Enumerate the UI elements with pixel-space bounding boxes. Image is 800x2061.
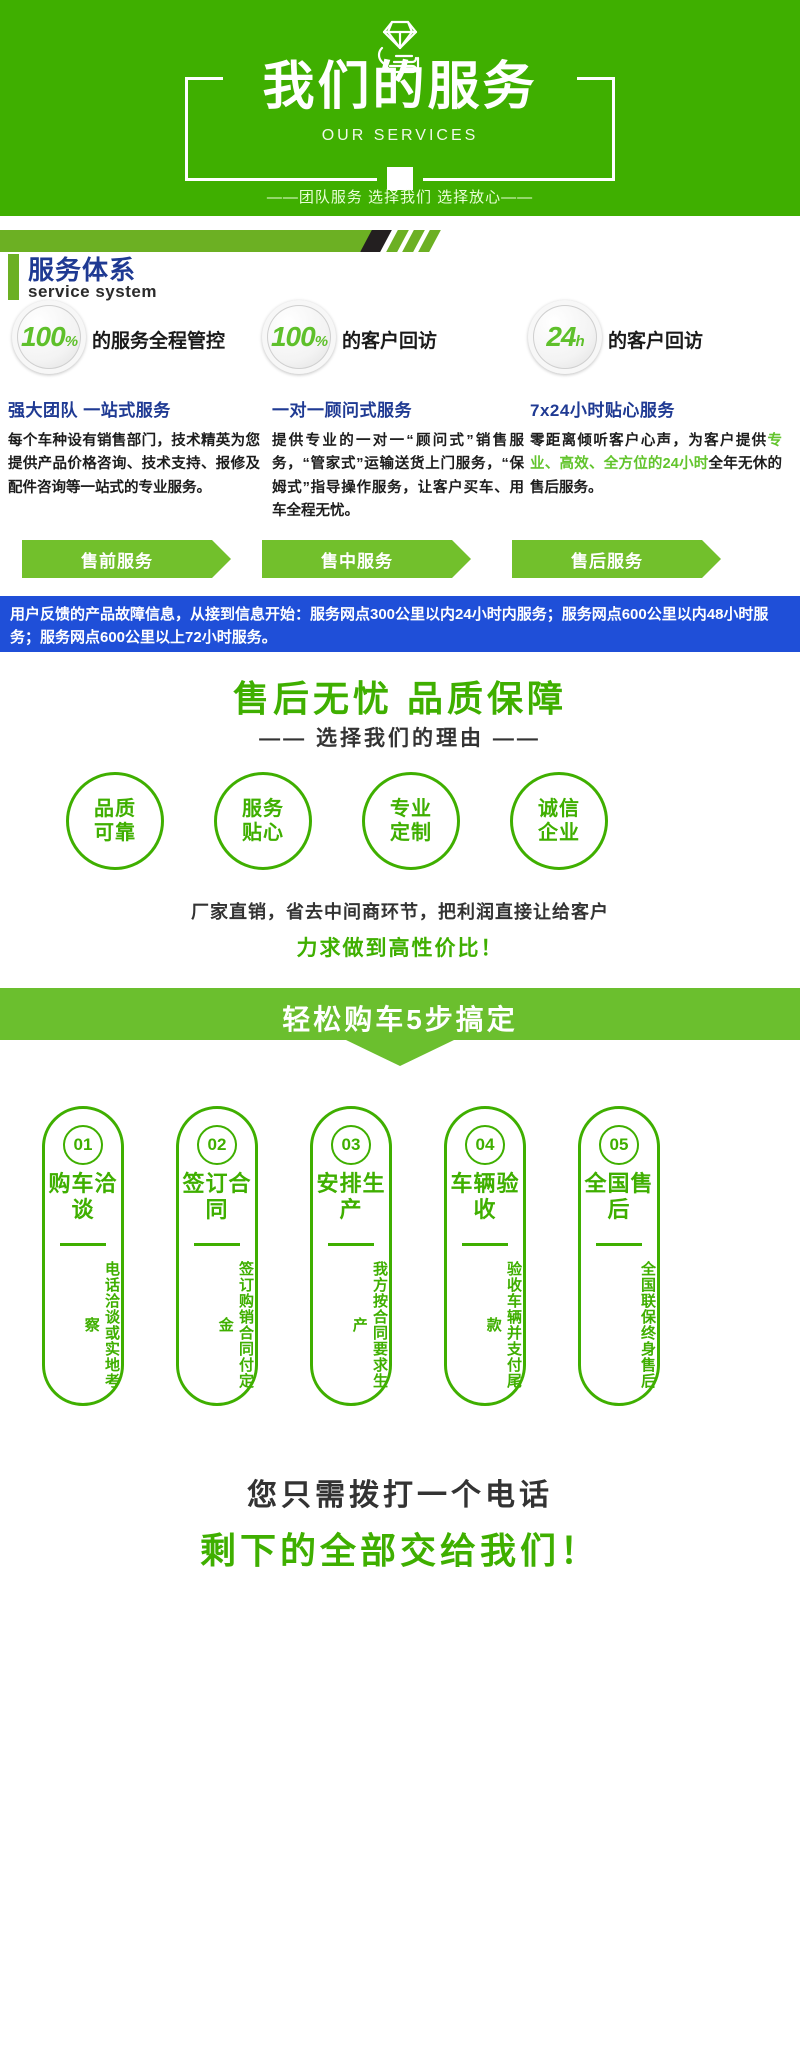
badge-row: 100% 的服务全程管控 100% 的客户回访 24h 的客户回访 <box>0 300 800 388</box>
arrow-banner-tip <box>346 1040 454 1066</box>
arrow-tab-presale[interactable]: 售前服务 <box>22 540 212 578</box>
step-number-4: 04 <box>465 1125 505 1165</box>
service-column-3: 7x24小时贴心服务 零距离倾听客户心声，为客户提供专业、高效、全方位的24小时… <box>530 396 782 500</box>
step-number-5: 05 <box>599 1125 639 1165</box>
column-heading-3: 7x24小时贴心服务 <box>530 396 782 421</box>
reason-1-line2: 可靠 <box>94 821 136 845</box>
column-body-3-pre: 零距离倾听客户心声，为客户提供 <box>530 433 768 449</box>
arrow-tab-aftersale[interactable]: 售后服务 <box>512 540 702 578</box>
step-title-4: 车辆验收 <box>447 1171 523 1223</box>
step-rule-1 <box>60 1243 106 1246</box>
badge-item-1: 100% 的服务全程管控 <box>12 300 258 388</box>
column-heading-1: 强大团队 一站式服务 <box>8 396 260 421</box>
reason-4-line1: 诚信 <box>538 797 580 821</box>
badge-label-3: 的客户回访 <box>608 326 703 353</box>
service-policy-banner: 用户反馈的产品故障信息，从接到信息开始：服务网点300公里以内24小时内服务；服… <box>0 596 800 652</box>
page-subtitle: OUR SERVICES <box>185 127 615 145</box>
step-capsule-5[interactable]: 05 全国售后 全国联保终身售后 <box>578 1106 660 1406</box>
purchase-steps-arrow-banner: 轻松购车5步搞定 <box>0 988 800 1064</box>
step-rule-5 <box>596 1243 642 1246</box>
step-capsule-4[interactable]: 04 车辆验收 验收车辆并支付尾款 <box>444 1106 526 1406</box>
step-title-5: 全国售后 <box>581 1171 657 1223</box>
value-for-money-line: 力求做到高性价比！ <box>0 932 800 962</box>
badge-number-2: 100% <box>271 323 327 351</box>
step-desc-1: 电话洽谈或实地考察 <box>45 1255 121 1395</box>
arrow-tab-midsale[interactable]: 售中服务 <box>262 540 452 578</box>
page-title: 我们的服务 <box>185 61 615 113</box>
section-heading-en: service system <box>28 282 157 302</box>
arrow-tab-row: 售前服务 售中服务 售后服务 <box>0 540 800 580</box>
step-desc-2: 签订购销合同付定金 <box>179 1255 255 1395</box>
reason-circle-2: 服务 贴心 <box>214 772 312 870</box>
step-number-3: 03 <box>331 1125 371 1165</box>
worry-free-subtitle: —— 选择我们的理由 —— <box>0 722 800 752</box>
reason-1-line1: 品质 <box>94 797 136 821</box>
step-rule-4 <box>462 1243 508 1246</box>
step-title-2: 签订合同 <box>179 1171 255 1223</box>
step-number-2: 02 <box>197 1125 237 1165</box>
step-title-1: 购车洽谈 <box>45 1171 121 1223</box>
badge-item-3: 24h 的客户回访 <box>528 300 774 388</box>
service-column-2: 一对一顾问式服务 提供专业的一对一“顾问式”销售服务，“管家式”运输送货上门服务… <box>272 396 524 524</box>
hero-banner: 我们的服务 OUR SERVICES ——团队服务 选择我们 选择放心—— <box>0 0 800 216</box>
column-heading-2: 一对一顾问式服务 <box>272 396 524 421</box>
reason-circle-4: 诚信 企业 <box>510 772 608 870</box>
arrow-banner-text: 轻松购车5步搞定 <box>0 998 800 1038</box>
reason-3-line2: 定制 <box>390 821 432 845</box>
reason-3-line1: 专业 <box>390 797 432 821</box>
step-capsule-2[interactable]: 02 签订合同 签订购销合同付定金 <box>176 1106 258 1406</box>
worry-free-title: 售后无忧 品质保障 <box>0 670 800 722</box>
step-capsule-1[interactable]: 01 购车洽谈 电话洽谈或实地考察 <box>42 1106 124 1406</box>
reason-circle-3: 专业 定制 <box>362 772 460 870</box>
reason-circle-1: 品质 可靠 <box>66 772 164 870</box>
step-rule-3 <box>328 1243 374 1246</box>
step-title-3: 安排生产 <box>313 1171 389 1223</box>
reason-4-line2: 企业 <box>538 821 580 845</box>
footer-line-2: 剩下的全部交给我们！ <box>0 1522 800 1574</box>
step-desc-4: 验收车辆并支付尾款 <box>447 1255 523 1395</box>
badge-circle-2: 100% <box>262 300 336 374</box>
footer-line-1: 您只需拨打一个电话 <box>0 1470 800 1514</box>
purchase-steps-row: 01 购车洽谈 电话洽谈或实地考察 02 签订合同 签订购销合同付定金 03 安… <box>0 1106 800 1416</box>
column-body-3: 零距离倾听客户心声，为客户提供专业、高效、全方位的24小时全年无休的售后服务。 <box>530 430 782 500</box>
badge-label-2: 的客户回访 <box>342 326 437 353</box>
step-desc-5: 全国联保终身售后 <box>581 1255 657 1395</box>
badge-label-1: 的服务全程管控 <box>92 326 225 353</box>
column-body-1: 每个车种设有销售部门，技术精英为您提供产品价格咨询、技术支持、报修及配件咨询等一… <box>8 430 260 500</box>
step-capsule-3[interactable]: 03 安排生产 我方按合同要求生产 <box>310 1106 392 1406</box>
badge-item-2: 100% 的客户回访 <box>262 300 508 388</box>
step-desc-3: 我方按合同要求生产 <box>313 1255 389 1395</box>
step-rule-2 <box>194 1243 240 1246</box>
reason-2-line1: 服务 <box>242 797 284 821</box>
badge-circle-3: 24h <box>528 300 602 374</box>
reason-2-line2: 贴心 <box>242 821 284 845</box>
badge-number-3: 24h <box>546 323 583 351</box>
hero-tagline: ——团队服务 选择我们 选择放心—— <box>0 186 800 207</box>
service-column-1: 强大团队 一站式服务 每个车种设有销售部门，技术精英为您提供产品价格咨询、技术支… <box>8 396 260 500</box>
step-number-1: 01 <box>63 1125 103 1165</box>
hero-title-frame: 我们的服务 OUR SERVICES <box>185 77 615 181</box>
badge-circle-1: 100% <box>12 300 86 374</box>
column-body-2: 提供专业的一对一“顾问式”销售服务，“管家式”运输送货上门服务，“保姆式”指导操… <box>272 430 524 524</box>
badge-number-1: 100% <box>21 323 77 351</box>
section-accent-bar <box>8 254 19 300</box>
reason-circle-row: 品质 可靠 服务 贴心 专业 定制 诚信 企业 <box>0 772 800 880</box>
stripe-bar <box>0 230 360 252</box>
factory-direct-line: 厂家直销，省去中间商环节，把利润直接让给客户 <box>0 898 800 924</box>
